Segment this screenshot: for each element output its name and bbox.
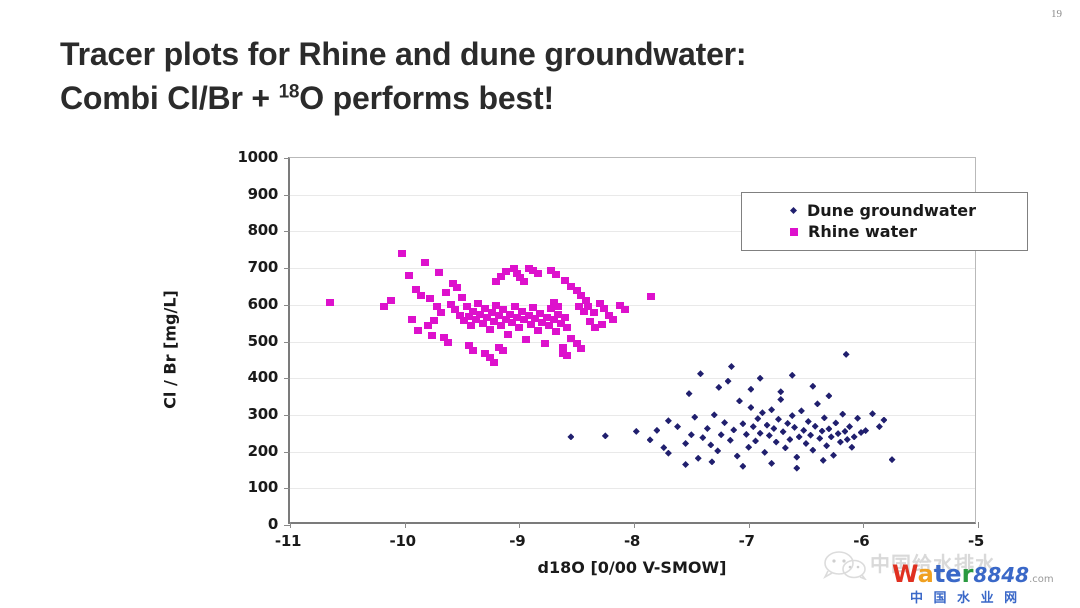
data-point [823, 442, 830, 449]
data-point [851, 433, 858, 440]
data-point [766, 432, 773, 439]
data-point [387, 297, 395, 304]
brand-letter-r: r [962, 560, 974, 588]
data-point [750, 423, 757, 430]
data-point [621, 306, 629, 313]
title-line-1: Tracer plots for Rhine and dune groundwa… [60, 32, 1000, 76]
x-tick-mark [290, 522, 291, 528]
data-point [805, 418, 812, 425]
data-point [598, 321, 606, 328]
y-tick-label: 0 [268, 515, 278, 533]
data-point [777, 388, 784, 395]
data-point [734, 453, 741, 460]
data-point [567, 433, 574, 440]
data-point [814, 400, 821, 407]
data-point [602, 432, 609, 439]
data-point [408, 316, 416, 323]
gridline [290, 378, 975, 379]
data-point [828, 433, 835, 440]
brand-tld: .com [1029, 574, 1054, 585]
data-point [499, 347, 507, 354]
x-tick-mark [634, 522, 635, 528]
data-point [417, 292, 425, 299]
data-point [880, 417, 887, 424]
brand-letter-w: W [892, 560, 918, 588]
data-point [715, 384, 722, 391]
wechat-logo-icon [822, 550, 868, 580]
plot-area: Dune groundwater Rhine water [288, 157, 976, 524]
legend-item-dune-groundwater: Dune groundwater [742, 200, 1027, 221]
watermark: 中国给水排水 Water8848.com 中 国 水 业 网 [820, 542, 1070, 604]
data-point [435, 269, 443, 276]
y-tick-mark [284, 342, 290, 343]
data-point [816, 435, 823, 442]
data-point [825, 392, 832, 399]
data-point [534, 327, 542, 334]
data-point [682, 461, 689, 468]
data-point [522, 336, 530, 343]
data-point [577, 345, 585, 352]
legend-label-rhine-water: Rhine water [808, 222, 917, 241]
x-tick-mark [405, 522, 406, 528]
data-point [440, 334, 448, 341]
title-line-2-pre: Combi Cl/Br + [60, 80, 279, 116]
data-point [490, 359, 498, 366]
y-axis-tick-labels: 01002003004005006007008009001000 [176, 157, 282, 524]
data-point [437, 309, 445, 316]
data-point [752, 437, 759, 444]
page-title: Tracer plots for Rhine and dune groundwa… [60, 32, 1000, 120]
data-point [674, 423, 681, 430]
data-point [426, 295, 434, 302]
data-point [747, 404, 754, 411]
data-point [398, 250, 406, 257]
data-point [686, 390, 693, 397]
data-point [695, 455, 702, 462]
y-tick-mark [284, 158, 290, 159]
data-point [424, 322, 432, 329]
y-tick-label: 800 [248, 221, 278, 239]
data-point [775, 416, 782, 423]
data-point [780, 428, 787, 435]
data-point [736, 397, 743, 404]
data-point [633, 428, 640, 435]
data-point [839, 411, 846, 418]
data-point [647, 293, 655, 300]
data-point [699, 434, 706, 441]
data-point [876, 423, 883, 430]
chart-legend: Dune groundwater Rhine water [741, 192, 1028, 251]
data-point [825, 425, 832, 432]
brand-number: 8848 [973, 563, 1029, 587]
data-point [492, 278, 500, 285]
y-tick-mark [284, 305, 290, 306]
data-point [554, 303, 562, 310]
brand-letters-te: te [934, 560, 962, 588]
data-point [796, 433, 803, 440]
data-point [786, 436, 793, 443]
y-tick-mark [284, 415, 290, 416]
x-tick-mark [978, 522, 979, 528]
data-point [835, 430, 842, 437]
data-point [534, 270, 542, 277]
data-point [541, 340, 549, 347]
data-point [428, 332, 436, 339]
x-tick-label: -8 [624, 532, 640, 550]
data-point [520, 278, 528, 285]
data-point [757, 430, 764, 437]
data-point [707, 441, 714, 448]
data-point [718, 431, 725, 438]
data-point [800, 427, 807, 434]
data-point [777, 396, 784, 403]
y-tick-mark [284, 378, 290, 379]
data-point [665, 417, 672, 424]
square-marker-icon [790, 228, 798, 236]
data-point [768, 460, 775, 467]
data-point [714, 447, 721, 454]
x-tick-label: -10 [390, 532, 416, 550]
y-tick-label: 200 [248, 442, 278, 460]
data-point [812, 423, 819, 430]
data-point [688, 431, 695, 438]
data-point [421, 259, 429, 266]
gridline [290, 268, 975, 269]
title-line-2: Combi Cl/Br + 18O performs best! [60, 76, 1000, 120]
data-point [869, 410, 876, 417]
page-number: 19 [1051, 8, 1062, 20]
data-point [743, 431, 750, 438]
data-point [563, 352, 571, 359]
y-tick-label: 600 [248, 295, 278, 313]
data-point [773, 439, 780, 446]
data-point [768, 406, 775, 413]
data-point [809, 383, 816, 390]
data-point [458, 294, 466, 301]
data-point [789, 412, 796, 419]
data-point [442, 289, 450, 296]
data-point [414, 327, 422, 334]
x-tick-mark [749, 522, 750, 528]
data-point [660, 444, 667, 451]
data-point [770, 425, 777, 432]
x-tick-mark [519, 522, 520, 528]
data-point [590, 309, 598, 316]
data-point [430, 317, 438, 324]
brand-letter-a: a [918, 560, 934, 588]
data-point [552, 271, 560, 278]
data-point [704, 425, 711, 432]
data-point [727, 437, 734, 444]
x-tick-mark [863, 522, 864, 528]
y-tick-label: 900 [248, 185, 278, 203]
data-point [682, 440, 689, 447]
data-point [784, 420, 791, 427]
data-point [793, 454, 800, 461]
watermark-chinese-bottom: 中 国 水 业 网 [910, 587, 1020, 606]
data-point [846, 423, 853, 430]
data-point [761, 449, 768, 456]
y-tick-mark [284, 268, 290, 269]
x-tick-label: -9 [509, 532, 525, 550]
y-tick-label: 1000 [237, 148, 278, 166]
data-point [708, 458, 715, 465]
data-point [757, 375, 764, 382]
data-point [841, 428, 848, 435]
data-point [326, 299, 334, 306]
data-point [848, 444, 855, 451]
data-point [807, 432, 814, 439]
y-tick-label: 100 [248, 478, 278, 496]
data-point [798, 407, 805, 414]
y-tick-mark [284, 488, 290, 489]
y-tick-label: 700 [248, 258, 278, 276]
data-point [697, 370, 704, 377]
data-point [843, 351, 850, 358]
data-point [764, 422, 771, 429]
data-point [504, 331, 512, 338]
watermark-brand: Water8848.com [892, 562, 1054, 586]
data-point [647, 436, 654, 443]
gridline [290, 488, 975, 489]
legend-label-dune-groundwater: Dune groundwater [807, 201, 976, 220]
data-point [730, 426, 737, 433]
data-point [552, 328, 560, 335]
data-point [747, 386, 754, 393]
data-point [791, 424, 798, 431]
data-point [782, 444, 789, 451]
data-point [563, 324, 571, 331]
data-point [837, 439, 844, 446]
data-point [889, 456, 896, 463]
y-tick-mark [284, 231, 290, 232]
diamond-marker-icon [790, 207, 797, 214]
data-point [380, 303, 388, 310]
data-point [803, 440, 810, 447]
data-point [739, 463, 746, 470]
title-superscript: 18 [279, 82, 300, 103]
data-point [609, 316, 617, 323]
data-point [832, 419, 839, 426]
data-point [453, 284, 461, 291]
y-tick-mark [284, 195, 290, 196]
data-point [711, 411, 718, 418]
data-point [469, 347, 477, 354]
data-point [739, 420, 746, 427]
y-tick-mark [284, 452, 290, 453]
data-point [728, 363, 735, 370]
data-point [754, 415, 761, 422]
x-tick-label: -7 [739, 532, 755, 550]
data-point [486, 326, 494, 333]
data-point [515, 324, 523, 331]
y-tick-label: 400 [248, 368, 278, 386]
title-line-2-post: O performs best! [299, 80, 554, 116]
data-point [721, 419, 728, 426]
data-point [844, 436, 851, 443]
data-point [561, 314, 569, 321]
data-point [653, 427, 660, 434]
scatter-chart: Cl / Br [mg/L] 0100200300400500600700800… [176, 140, 1006, 590]
data-point [745, 444, 752, 451]
data-point [793, 465, 800, 472]
gridline [290, 452, 975, 453]
x-tick-label: -11 [275, 532, 301, 550]
data-point [830, 452, 837, 459]
y-tick-label: 300 [248, 405, 278, 423]
gridline [290, 342, 975, 343]
data-point [819, 428, 826, 435]
legend-item-rhine-water: Rhine water [742, 221, 1027, 242]
data-point [405, 272, 413, 279]
data-point [820, 457, 827, 464]
gridline [290, 305, 975, 306]
y-tick-label: 500 [248, 332, 278, 350]
